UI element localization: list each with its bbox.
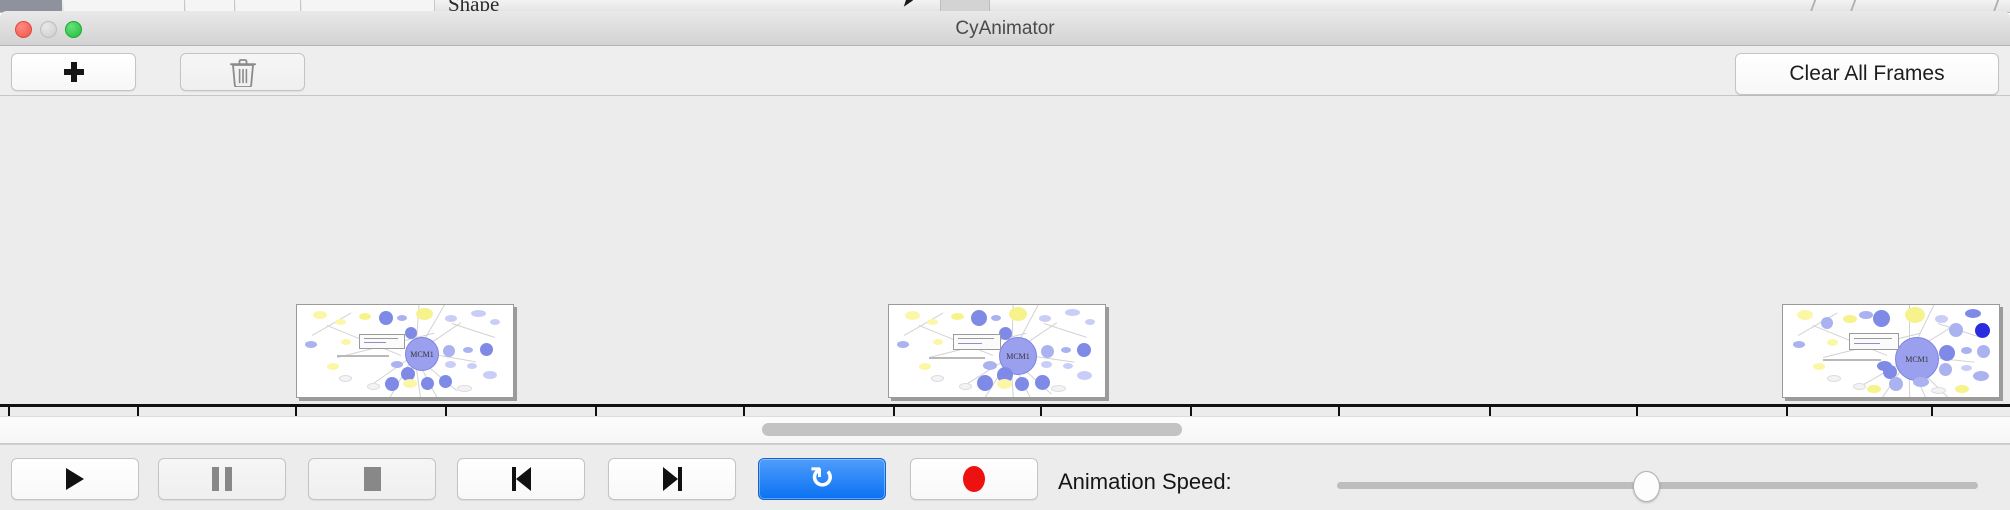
cyanimator-window: CyAnimator Clear All Frames xyxy=(0,11,2010,510)
axis-minor-tick xyxy=(1636,407,1638,416)
timeline-frame-thumbnail[interactable]: MCM1 xyxy=(1782,304,2000,398)
axis-minor-tick xyxy=(137,407,139,416)
network-thumbnail: MCM1 xyxy=(889,305,1105,397)
node-tooltip xyxy=(359,334,405,349)
axis-major-tick xyxy=(1190,407,1192,416)
window-title: CyAnimator xyxy=(0,18,2010,40)
frame-toolbar: Clear All Frames xyxy=(0,46,2010,96)
axis-minor-tick xyxy=(1931,407,1933,416)
axis-minor-tick xyxy=(743,407,745,416)
timeline-scrollbar[interactable] xyxy=(0,416,2010,444)
skip-start-icon xyxy=(512,467,531,491)
axis-minor-tick xyxy=(1338,407,1340,416)
axis-major-tick xyxy=(1489,407,1491,416)
play-button[interactable] xyxy=(11,458,139,500)
pause-button[interactable] xyxy=(158,458,286,500)
delete-frame-button[interactable] xyxy=(180,53,305,91)
axis-major-tick xyxy=(595,407,597,416)
axis-minor-tick xyxy=(445,407,447,416)
axis-major-tick xyxy=(8,407,10,416)
add-frame-button[interactable] xyxy=(11,53,136,91)
skip-end-button[interactable] xyxy=(608,458,736,500)
stop-button[interactable] xyxy=(308,458,436,500)
cursor-arrow-icon xyxy=(904,0,913,9)
clear-all-frames-button[interactable]: Clear All Frames xyxy=(1735,53,1999,95)
timeline-scrollbar-thumb[interactable] xyxy=(762,423,1182,436)
record-icon xyxy=(963,466,985,492)
node-tooltip xyxy=(1849,333,1899,350)
plus-icon xyxy=(62,60,86,84)
play-icon xyxy=(66,468,84,490)
stop-icon xyxy=(364,467,381,491)
window-titlebar[interactable]: CyAnimator xyxy=(0,11,2010,46)
timeline-frame-thumbnail[interactable]: MCM1 xyxy=(888,304,1106,398)
clear-all-frames-label: Clear All Frames xyxy=(1789,62,1944,86)
axis-major-tick xyxy=(893,407,895,416)
axis-minor-tick xyxy=(1040,407,1042,416)
animation-speed-slider-thumb[interactable] xyxy=(1633,471,1660,502)
loop-icon: ↻ xyxy=(809,464,834,494)
record-button[interactable] xyxy=(910,458,1038,500)
axis-major-tick xyxy=(1786,407,1788,416)
screenshot-root: Shape CyAnimator xyxy=(0,0,2010,510)
timeline-frame-thumbnail[interactable]: MCM1 xyxy=(296,304,514,398)
skip-end-icon xyxy=(663,467,682,491)
playback-control-bar: ↻ Animation Speed: xyxy=(0,444,2010,510)
trash-icon xyxy=(230,58,256,87)
skip-start-button[interactable] xyxy=(457,458,585,500)
node-tooltip xyxy=(953,334,1001,350)
pause-icon xyxy=(212,467,232,491)
animation-speed-label: Animation Speed: xyxy=(1058,469,1232,495)
axis-major-tick xyxy=(295,407,297,416)
network-thumbnail: MCM1 xyxy=(1783,305,1999,397)
loop-button[interactable]: ↻ xyxy=(758,458,886,500)
timeline-panel[interactable]: MCM1 xyxy=(0,96,2010,416)
timeline-axis-line xyxy=(0,404,2010,407)
network-thumbnail: MCM1 xyxy=(297,305,513,397)
